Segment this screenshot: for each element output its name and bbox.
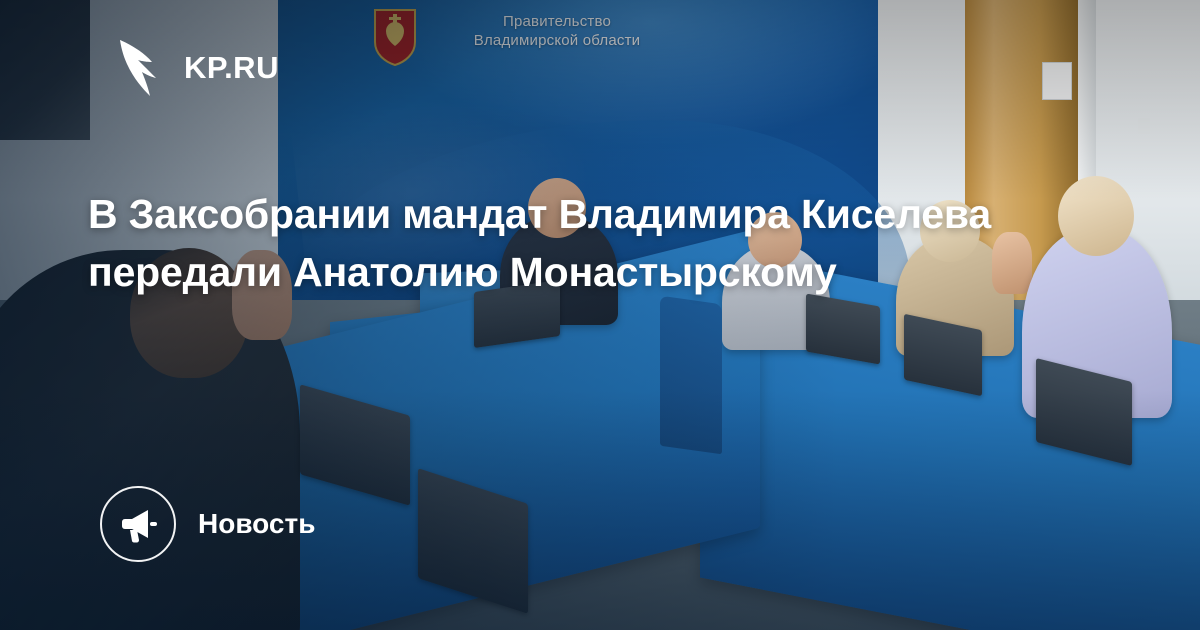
news-share-card: Правительство Владимирской области bbox=[0, 0, 1200, 630]
chair-center bbox=[660, 296, 722, 455]
brand-name: KP.RU bbox=[184, 50, 279, 86]
wall-monitor bbox=[0, 0, 90, 140]
emblem-caption-line1: Правительство bbox=[432, 12, 682, 31]
kp-bird-logo-icon bbox=[110, 38, 166, 98]
emblem-caption-line2: Владимирской области bbox=[432, 31, 682, 50]
page-title: В Заксобрании мандат Владимира Киселева … bbox=[88, 185, 1088, 301]
door-sign bbox=[1042, 62, 1072, 100]
news-badge[interactable]: Новость bbox=[100, 486, 315, 562]
vladimir-oblast-coat-of-arms-icon bbox=[372, 8, 418, 66]
news-badge-label: Новость bbox=[198, 508, 315, 540]
wall-socket bbox=[1138, 118, 1150, 134]
emblem-caption: Правительство Владимирской области bbox=[432, 12, 682, 50]
megaphone-icon bbox=[100, 486, 176, 562]
brand-lockup[interactable]: KP.RU bbox=[110, 38, 279, 98]
